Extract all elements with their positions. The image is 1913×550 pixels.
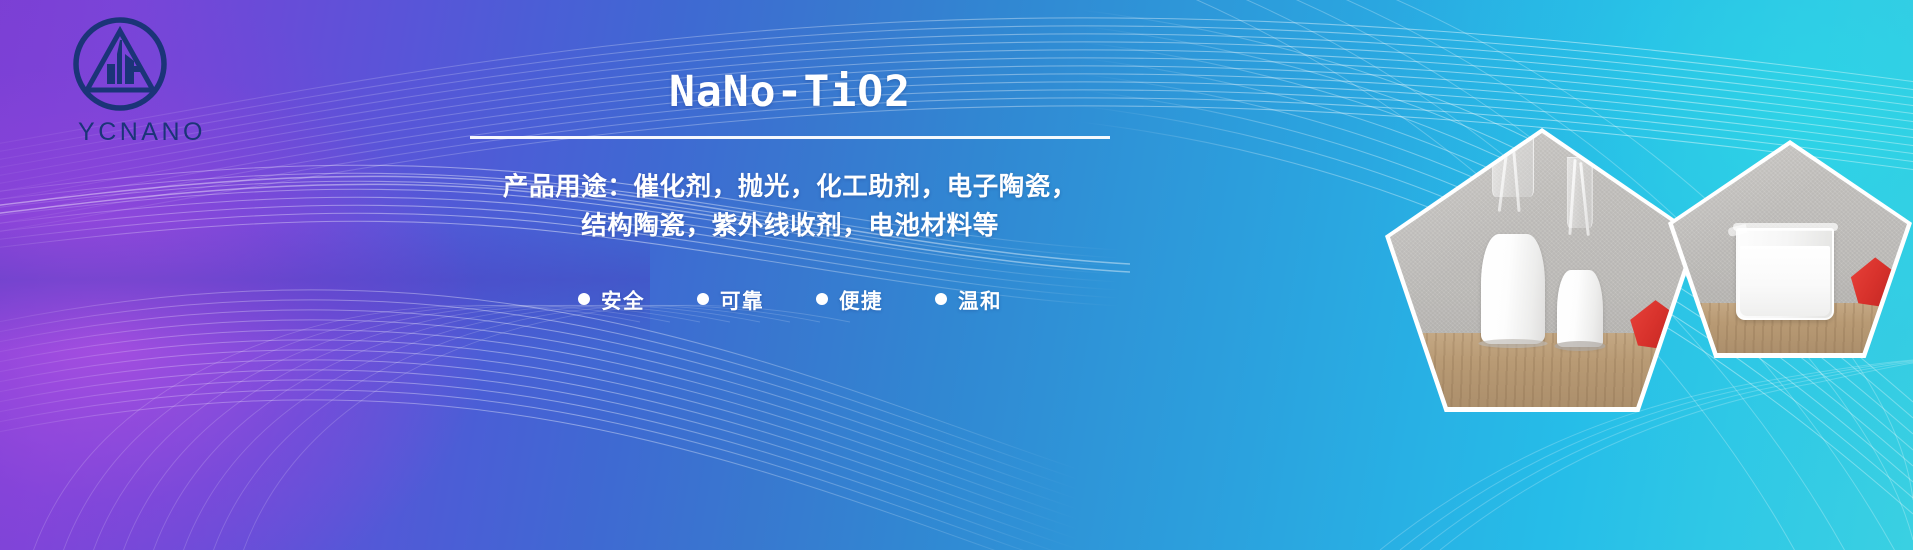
description-line-1: 产品用途：催化剂，抛光，化工助剂，电子陶瓷， xyxy=(470,168,1110,207)
feature-list: 安全 可靠 便捷 温和 xyxy=(470,284,1110,314)
bullet-dot-icon xyxy=(697,293,709,305)
page-title: NaNo-TiO2 xyxy=(470,70,1110,115)
bullet-dot-icon xyxy=(816,293,828,305)
banner-content: NaNo-TiO2 产品用途：催化剂，抛光，化工助剂，电子陶瓷， 结构陶瓷，紫外… xyxy=(470,70,1110,314)
brand-logo[interactable]: YCNANO xyxy=(52,14,232,154)
feature-item-mild: 温和 xyxy=(935,284,1002,314)
glass-beaker-with-slurry xyxy=(1736,228,1834,320)
ycnano-logo-icon xyxy=(70,14,170,114)
description-line-2: 结构陶瓷，紫外线收剂，电池材料等 xyxy=(470,207,1110,246)
feature-label: 安全 xyxy=(601,284,645,314)
feature-item-safe: 安全 xyxy=(578,284,645,314)
product-banner: YCNANO NaNo-TiO2 产品用途：催化剂，抛光，化工助剂，电子陶瓷， … xyxy=(0,0,1913,550)
bullet-dot-icon xyxy=(935,293,947,305)
feature-label: 便捷 xyxy=(839,284,883,314)
feature-label: 可靠 xyxy=(720,284,764,314)
feature-label: 温和 xyxy=(958,284,1002,314)
feature-item-convenient: 便捷 xyxy=(816,284,883,314)
feature-item-reliable: 可靠 xyxy=(697,284,764,314)
title-divider xyxy=(470,136,1110,139)
product-description: 产品用途：催化剂，抛光，化工助剂，电子陶瓷， 结构陶瓷，紫外线收剂，电池材料等 xyxy=(470,168,1110,246)
brand-wordmark: YCNANO xyxy=(52,118,232,147)
bullet-dot-icon xyxy=(578,293,590,305)
white-vase-short xyxy=(1557,223,1603,346)
white-vase-tall xyxy=(1481,191,1545,344)
